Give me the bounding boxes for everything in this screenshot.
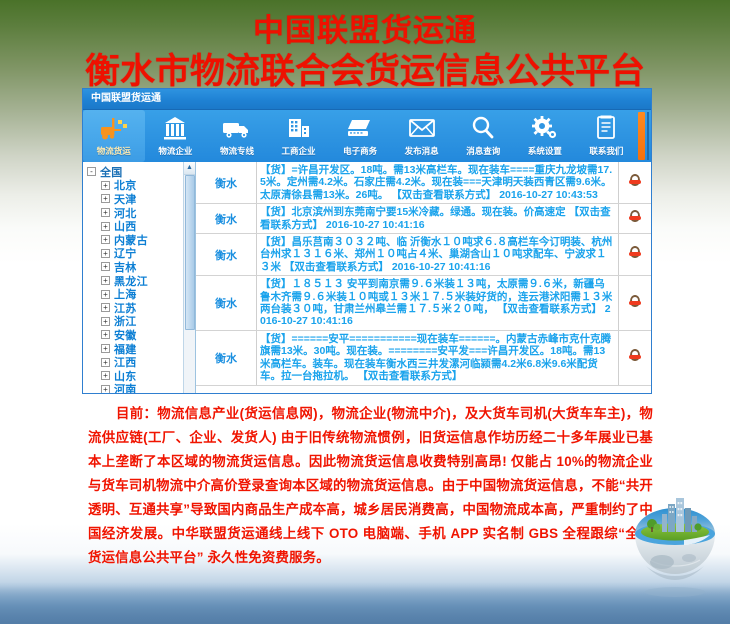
toolbar-item-dianzishangwu[interactable]: 电子商务 [329,110,391,162]
table-row[interactable]: 衡水 【货】北京滨州到东莞南宁要15米冷藏。绿通。现在装。价高速定 【双击查看联… [196,204,651,234]
expand-icon[interactable]: + [101,249,110,258]
row-message-text: 【货】======安平===========现在装车======。内蒙古赤峰市克… [260,333,611,382]
toolbar-label: 工商企业 [282,145,316,157]
row-contact[interactable] [619,276,652,331]
table-row[interactable]: 衡水 【货】======安平===========现在装车======。内蒙古赤… [196,330,651,385]
table-row[interactable]: 衡水 【货】１８５１３ 安平到南京需９.６米装１３吨，太原需９.６米，新疆乌鲁木… [196,276,651,331]
toolbar-label: 消息查询 [466,145,500,157]
tree-node-fujian[interactable]: + 福建 [87,342,195,356]
row-city: 衡水 [196,276,257,331]
expand-icon[interactable]: + [101,235,110,244]
expand-icon[interactable]: + [101,181,110,190]
qq-icon[interactable] [629,245,641,259]
row-timestamp: 2016-10-27 10:41:16 [326,219,425,231]
window-title-text: 中国联盟货运通 [91,93,161,104]
scrollbar-thumb[interactable] [185,175,195,330]
globe-city-image [626,488,724,598]
window-body: - 全国 + 北京 + 天津 + 河北 + 山西 [83,162,651,394]
collapse-icon[interactable]: - [87,167,96,176]
expand-icon[interactable]: + [101,276,110,285]
expand-icon[interactable]: + [101,358,110,367]
row-message[interactable]: 【货】北京滨州到东莞南宁要15米冷藏。绿通。现在装。价高速定 【双击查看联系方式… [257,204,619,234]
scroll-up-icon[interactable]: ▲ [184,162,195,175]
description-paragraph: 目前：物流信息产业(货运信息网)，物流企业(物流中介)，及大货车司机(大货车车主… [88,402,653,570]
toolbar-item-gongshangqiye[interactable]: 工商企业 [268,110,330,162]
toolbar-label: 物流企业 [158,145,192,157]
row-message-text: 【货】１８５１３ 安平到南京需９.６米装１３吨，太原需９.６米，新疆乌鲁木齐需９… [260,278,612,315]
document-icon [594,113,618,143]
expand-icon[interactable]: + [101,303,110,312]
row-contact[interactable] [619,330,652,385]
page-title: 中国联盟货运通 衡水市物流联合会货运信息公共平台 [0,14,730,91]
row-city: 衡水 [196,204,257,234]
tree-node-tianjin[interactable]: + 天津 [87,192,195,206]
toolbar-label: 联系我们 [589,145,623,157]
freight-info-table: 衡水 【货】=许昌开发区。18吨。需13米高栏车。现在装车====重庆九龙坡需1… [196,162,651,386]
tree-node-root[interactable]: - 全国 [87,165,195,179]
sidebar-scrollbar[interactable]: ▲ [183,162,195,394]
tree-node-zhejiang[interactable]: + 浙江 [87,315,195,329]
ecommerce-icon [346,113,374,143]
row-message[interactable]: 【货】昌乐莒南３０３２吨、临 沂衡水１０吨求６.８高栏车今订明装、杭州台州求１３… [257,234,619,276]
qq-icon[interactable] [629,173,641,187]
row-message[interactable]: 【货】======安平===========现在装车======。内蒙古赤峰市克… [257,330,619,385]
expand-icon[interactable]: + [101,317,110,326]
freight-info-table-wrapper: 衡水 【货】=许昌开发区。18吨。需13米高栏车。现在装车====重庆九龙坡需1… [196,162,651,394]
toolbar-item-fabuxiaoxi[interactable]: 发布消息 [391,110,453,162]
promo-banner[interactable]: 各位会员 要全方位测试 “货运通” 功能！ [647,112,649,160]
tree-node-jiangxi[interactable]: + 江西 [87,355,195,369]
window-title-bar: 中国联盟货运通 [83,89,651,110]
row-contact[interactable] [619,234,652,276]
toolbar-item-xiaoxichaxun[interactable]: 消息查询 [452,110,514,162]
toolbar-item-wuliuqiye[interactable]: 物流企业 [145,110,207,162]
qq-icon[interactable] [629,348,641,362]
tree-node-anhui[interactable]: + 安徽 [87,328,195,342]
row-city: 衡水 [196,234,257,276]
application-window: 中国联盟货运通 物流货运 [82,88,652,394]
office-building-icon [286,113,312,143]
expand-icon[interactable]: + [101,385,110,394]
tree-node-liaoning[interactable]: + 辽宁 [87,247,195,261]
qq-icon[interactable] [629,209,641,223]
row-contact[interactable] [619,162,652,204]
expand-icon[interactable]: + [101,222,110,231]
tree-node-jiangsu[interactable]: + 江苏 [87,301,195,315]
truck-icon [222,113,252,143]
tree-node-shanghai[interactable]: + 上海 [87,287,195,301]
region-tree: - 全国 + 北京 + 天津 + 河北 + 山西 [83,162,195,394]
toolbar: 物流货运 物流企业 [83,110,651,162]
row-city: 衡水 [196,162,257,204]
table-row[interactable]: 衡水 【货】昌乐莒南３０３２吨、临 沂衡水１０吨求６.８高栏车今订明装、杭州台州… [196,234,651,276]
tree-node-label: 河南 [114,381,137,394]
toolbar-label: 电子商务 [343,145,377,157]
toolbar-item-wuliuzhuanxian[interactable]: 物流专线 [206,110,268,162]
building-icon [162,113,188,143]
row-message[interactable]: 【货】=许昌开发区。18吨。需13米高栏车。现在装车====重庆九龙坡需17.5… [257,162,619,204]
region-tree-sidebar: - 全国 + 北京 + 天津 + 河北 + 山西 [83,162,196,394]
search-icon [470,113,496,143]
toolbar-item-xitongshezhi[interactable]: 系统设置 [514,110,576,162]
page-title-line2: 衡水市物流联合会货运信息公共平台 [0,52,730,91]
toolbar-label: 物流货运 [97,145,131,157]
forklift-icon [99,113,129,143]
tree-node-henan[interactable]: + 河南 [87,383,195,395]
row-city: 衡水 [196,330,257,385]
expand-icon[interactable]: + [101,194,110,203]
expand-icon[interactable]: + [101,371,110,380]
toolbar-divider [638,112,645,160]
expand-icon[interactable]: + [101,208,110,217]
table-row[interactable]: 衡水 【货】=许昌开发区。18吨。需13米高栏车。现在装车====重庆九龙坡需1… [196,162,651,204]
tree-node-heilongjiang[interactable]: + 黑龙江 [87,274,195,288]
row-timestamp: 2016-10-27 10:41:16 [392,261,491,273]
tree-node-hebei[interactable]: + 河北 [87,206,195,220]
tree-node-shandong[interactable]: + 山东 [87,369,195,383]
tree-node-beijing[interactable]: + 北京 [87,179,195,193]
row-contact[interactable] [619,204,652,234]
toolbar-label: 系统设置 [528,145,562,157]
expand-icon[interactable]: + [101,290,110,299]
promo-banner-text: 各位会员 要全方位测试 “货运通” 功能！ [648,113,649,148]
toolbar-label: 发布消息 [405,145,439,157]
expand-icon[interactable]: + [101,344,110,353]
toolbar-item-lianxiwomen[interactable]: 联系我们 [576,110,638,162]
row-message[interactable]: 【货】１８５１３ 安平到南京需９.６米装１３吨，太原需９.６米，新疆乌鲁木齐需９… [257,276,619,331]
expand-icon[interactable]: + [101,262,110,271]
envelope-icon [408,113,436,143]
row-message-text: 【货】北京滨州到东莞南宁要15米冷藏。绿通。现在装。价高速定 【双击查看联系方式… [260,206,611,230]
toolbar-item-wuliuhuoyun[interactable]: 物流货运 [83,110,145,162]
row-timestamp: 2016-10-27 10:43:53 [499,189,598,201]
toolbar-label: 物流专线 [220,145,254,157]
tree-node-neimenggu[interactable]: + 内蒙古 [87,233,195,247]
qq-icon[interactable] [629,294,641,308]
expand-icon[interactable]: + [101,330,110,339]
page-title-line1: 中国联盟货运通 [0,14,730,49]
gear-icon [531,113,559,143]
